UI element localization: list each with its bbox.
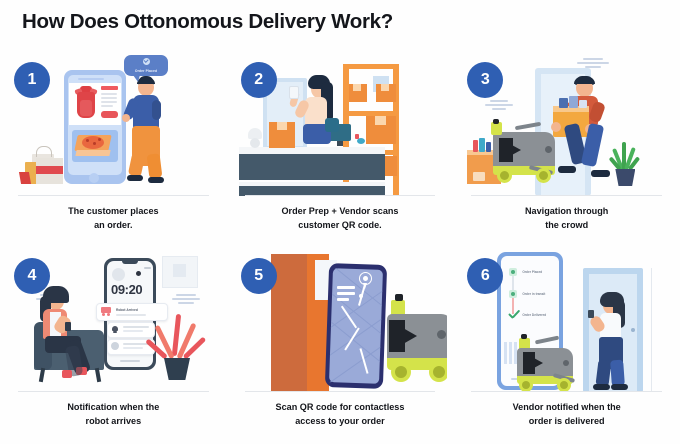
delivery-robot	[513, 330, 585, 392]
wall-edge	[651, 268, 652, 392]
background-text-block-a	[577, 58, 611, 70]
status-circle	[112, 268, 125, 281]
caption-line-1: Navigation through	[461, 204, 672, 218]
step-card-4: 09:20 Robot Arrived	[0, 248, 227, 444]
location-pin-icon	[359, 272, 373, 290]
check-icon	[143, 58, 150, 65]
cup-icon-2	[367, 138, 375, 144]
caption-line-1: Order Prep + Vendor scans	[235, 204, 446, 218]
ground-line	[471, 195, 662, 196]
desk-lamp-icon	[246, 128, 264, 150]
step-caption-6: Vendor notified when the order is delive…	[461, 400, 672, 428]
notification-label: Robot Arrived	[116, 308, 138, 312]
delivery-robot	[377, 292, 448, 388]
infographic-page: How Does Ottonomous Delivery Work?	[0, 0, 680, 444]
caption-line-1: Scan QR code for contactless	[235, 400, 446, 414]
step-card-3: 3 Navigation through the crowd	[453, 52, 680, 248]
step-badge-1: 1	[14, 62, 50, 98]
ground-line	[245, 391, 436, 392]
caption-line-2: an order.	[8, 218, 219, 232]
step-caption-5: Scan QR code for contactless access to y…	[235, 400, 446, 428]
bubble-label: Order Placed	[135, 69, 157, 73]
caption-line-2: customer QR code.	[235, 218, 446, 232]
potted-plant	[611, 142, 643, 188]
step-caption-2: Order Prep + Vendor scans customer QR co…	[235, 204, 446, 232]
bell-icon	[111, 325, 119, 333]
order-placed-bubble: Order Placed	[124, 55, 168, 76]
order-button-icon	[101, 111, 118, 118]
step-card-5: 5 Scan QR code for contactless access to…	[227, 248, 454, 444]
tracking-label-3: Order Delivered	[522, 313, 546, 317]
bag-red-stripe	[36, 166, 63, 174]
phone-home-button	[89, 173, 99, 183]
counter-front	[239, 154, 385, 180]
caption-line-2: order is delivered	[461, 414, 672, 428]
caption-line-2: robot arrives	[8, 414, 219, 428]
bag-handle	[36, 146, 52, 157]
step-card-2: 2 Order Prep + Vendor scans customer QR …	[227, 52, 454, 248]
screen-header-line	[78, 78, 104, 80]
held-phone-icon	[65, 322, 71, 331]
step-card-1: Order Placed 1 The customer places an or…	[0, 52, 227, 248]
tracking-label-1: Order Placed	[522, 270, 542, 274]
phone-notch	[122, 261, 138, 264]
step-badge-4: 4	[14, 258, 50, 294]
vendor-person	[291, 74, 347, 150]
step-caption-4: Notification when the robot arrives	[8, 400, 219, 428]
caption-line-1: Vendor notified when the	[461, 400, 672, 414]
step-caption-3: Navigation through the crowd	[461, 204, 672, 232]
shelf-top	[343, 64, 399, 69]
ground-line	[471, 391, 662, 392]
held-phone-icon	[588, 310, 594, 318]
shopping-bag-red	[19, 172, 31, 184]
bubble-tail-icon	[133, 75, 140, 82]
step-badge-2: 2	[241, 62, 277, 98]
caption-line-2: the crowd	[461, 218, 672, 232]
steps-grid: Order Placed 1 The customer places an or…	[0, 52, 680, 444]
woman-on-armchair	[32, 286, 112, 378]
caption-line-1: Notification when the	[8, 400, 219, 414]
pizza-box-icon	[76, 133, 114, 159]
man-carrying-box	[555, 76, 619, 188]
page-title: How Does Ottonomous Delivery Work?	[22, 10, 393, 34]
red-dress-icon	[74, 86, 98, 122]
ground-line	[18, 391, 209, 392]
caption-line-2: access to your order	[235, 414, 446, 428]
tracking-label-2: Order in transit	[522, 292, 545, 296]
customer-person	[124, 76, 174, 184]
potted-fern	[154, 312, 204, 382]
lockscreen-clock: 09:20	[111, 282, 142, 297]
caption-line-1: The customer places	[8, 204, 219, 218]
ground-line	[245, 195, 436, 196]
step-card-6: Order Placed Order in transit Order Deli…	[453, 248, 680, 444]
woman-with-phone	[587, 292, 645, 392]
avatar-icon	[111, 342, 119, 350]
listing-title-bar	[101, 86, 118, 90]
vendor-phone-icon	[289, 86, 299, 99]
step-caption-1: The customer places an order.	[8, 204, 219, 232]
check-icon	[507, 310, 520, 321]
step-badge-5: 5	[241, 258, 277, 294]
background-text-block	[172, 294, 202, 306]
ground-line	[18, 195, 209, 196]
background-text-block-b	[485, 100, 515, 112]
route-start-dot	[359, 294, 363, 298]
